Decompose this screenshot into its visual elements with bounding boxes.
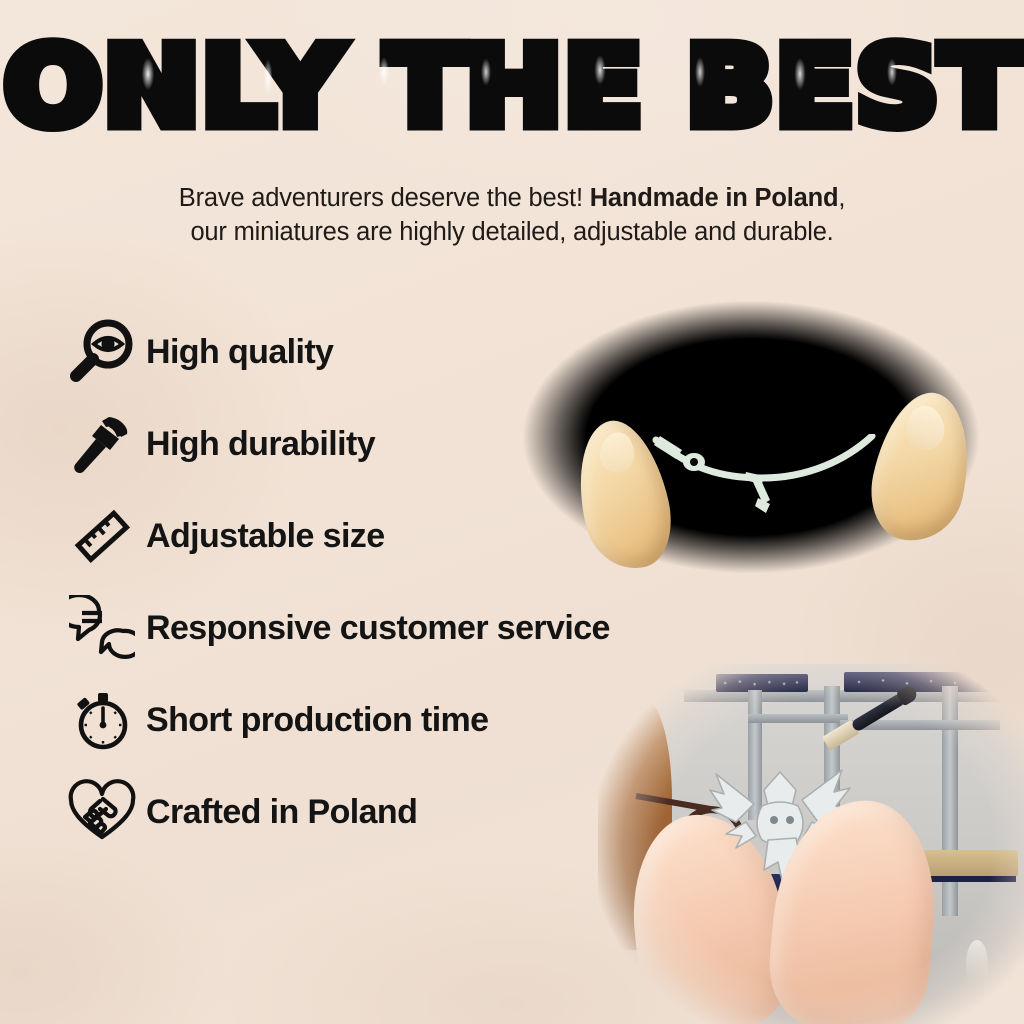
feature-label: High durability	[146, 425, 375, 464]
shelf-parts-top-left	[716, 676, 808, 690]
ruler-icon	[62, 496, 142, 576]
speech-bubbles-icon	[62, 588, 142, 668]
feature-label: Short production time	[146, 701, 489, 740]
page-title: ONLY THE BEST	[4, 34, 1021, 142]
flexible-resin-part	[650, 434, 890, 524]
subtitle-line2: our miniatures are highly detailed, adju…	[190, 218, 833, 246]
feature-label: Adjustable size	[146, 517, 385, 556]
feature-item-responsive-customer-service: Responsive customer service	[62, 582, 762, 674]
subtitle-line1-bold: Handmade in Poland	[590, 184, 839, 212]
subtitle-line1-tail: ,	[838, 184, 845, 212]
feature-label: Crafted in Poland	[146, 793, 417, 832]
magnifier-eye-icon	[62, 312, 142, 392]
hammer-icon	[62, 404, 142, 484]
promo-poster: ONLY THE BEST Brave adventurers deserve …	[0, 0, 1024, 1024]
stopwatch-icon	[62, 680, 142, 760]
shelf-parts-top-right	[844, 674, 994, 690]
flexible-miniature-photo	[508, 282, 994, 592]
feature-label: Responsive customer service	[146, 609, 610, 648]
feature-label: High quality	[146, 333, 333, 372]
handshake-heart-icon	[62, 772, 142, 852]
small-miniature	[966, 940, 988, 980]
title-block: ONLY THE BEST	[0, 34, 1024, 142]
workshop-painting-photo	[598, 664, 1024, 1024]
shelf-board-mid	[748, 714, 848, 723]
subtitle-line1-plain: Brave adventurers deserve the best!	[179, 184, 590, 212]
subtitle: Brave adventurers deserve the best! Hand…	[60, 182, 964, 250]
workshop-scene	[598, 664, 1024, 1024]
